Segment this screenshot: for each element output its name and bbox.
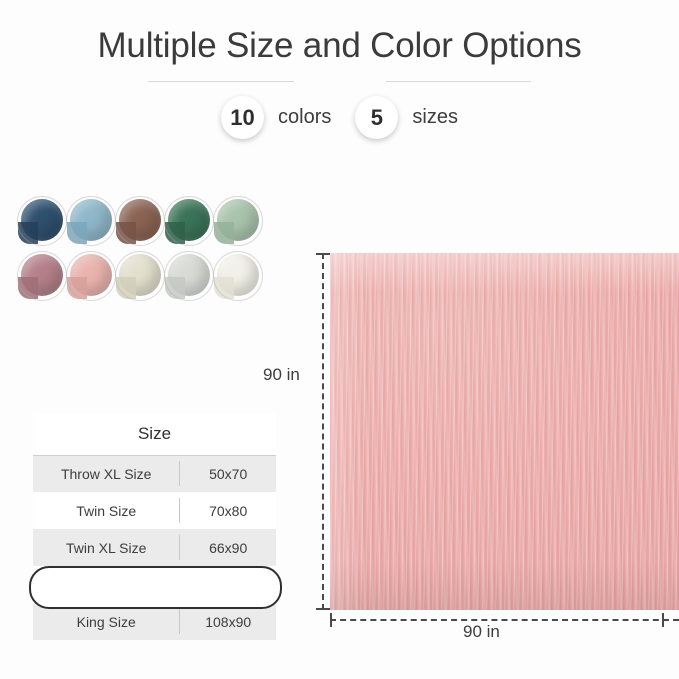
width-dimension-line: [330, 619, 679, 621]
swatch-ring: [115, 196, 165, 246]
size-name: King Size: [33, 603, 179, 640]
size-name: Throw XL Size: [33, 455, 179, 492]
height-cap-top: [316, 253, 330, 255]
width-label: 90 in: [455, 622, 508, 642]
table-header-row: Size: [33, 413, 276, 455]
size-table: Size Throw XL Size 50x70 Twin Size 70x80…: [33, 413, 276, 640]
page-title: Multiple Size and Color Options: [0, 26, 679, 66]
width-cap-left: [330, 613, 332, 627]
sizes-label: sizes: [412, 106, 458, 129]
size-value: 50x70: [180, 455, 276, 492]
size-value: 90x90: [180, 566, 276, 603]
size-name: Twin XL Size: [33, 529, 179, 566]
swatch-ring: [213, 196, 263, 246]
table-row[interactable]: King Size 108x90: [33, 603, 276, 640]
height-cap-bottom: [316, 608, 330, 610]
product-image: [330, 253, 679, 610]
swatch-sage-green[interactable]: [213, 196, 263, 246]
swatch-clay-brown[interactable]: [115, 196, 165, 246]
swatch-ring: [164, 251, 214, 301]
colors-count-badge: 10: [221, 96, 264, 139]
product-infographic: Multiple Size and Color Options 10 color…: [0, 0, 679, 679]
swatch-ring: [17, 196, 67, 246]
title-divider-gap: [294, 80, 386, 83]
blanket-shadow-bottom: [330, 562, 679, 610]
table-row[interactable]: Twin Size 70x80: [33, 492, 276, 529]
swatch-forest-green[interactable]: [164, 196, 214, 246]
swatch-cream-beige[interactable]: [115, 251, 165, 301]
swatch-ring: [66, 196, 116, 246]
table-header-underline: [33, 455, 276, 456]
blanket-texture: [330, 253, 679, 610]
size-value: 66x90: [180, 529, 276, 566]
size-name: Twin Size: [33, 492, 179, 529]
size-value: 70x80: [180, 492, 276, 529]
swatch-ring: [164, 196, 214, 246]
swatch-dusty-rose[interactable]: [17, 251, 67, 301]
swatch-ring: [115, 251, 165, 301]
blanket-highlight-top: [330, 253, 679, 293]
swatch-ring: [213, 251, 263, 301]
height-dimension-line: [322, 253, 324, 610]
swatch-navy-blue[interactable]: [17, 196, 67, 246]
height-label: 90 in: [263, 365, 300, 385]
colors-label: colors: [278, 106, 331, 129]
swatch-ring: [66, 251, 116, 301]
size-name: Queen Size: [33, 566, 179, 603]
table-header-label: Size: [33, 413, 276, 455]
swatch-ivory-white[interactable]: [213, 251, 263, 301]
color-swatch-grid: [17, 196, 267, 306]
table-row[interactable]: Throw XL Size 50x70: [33, 455, 276, 492]
swatch-dusty-blue[interactable]: [66, 196, 116, 246]
swatch-blush-pink[interactable]: [66, 251, 116, 301]
table-row[interactable]: Twin XL Size 66x90: [33, 529, 276, 566]
size-value: 108x90: [180, 603, 276, 640]
width-cap-right: [662, 613, 664, 627]
swatch-light-grey[interactable]: [164, 251, 214, 301]
swatch-ring: [17, 251, 67, 301]
table-row-selected[interactable]: Queen Size 90x90: [33, 566, 276, 603]
sizes-count-badge: 5: [355, 96, 398, 139]
blanket-highlight-left: [330, 253, 366, 610]
badge-row: 10 colors 5 sizes: [0, 96, 679, 139]
